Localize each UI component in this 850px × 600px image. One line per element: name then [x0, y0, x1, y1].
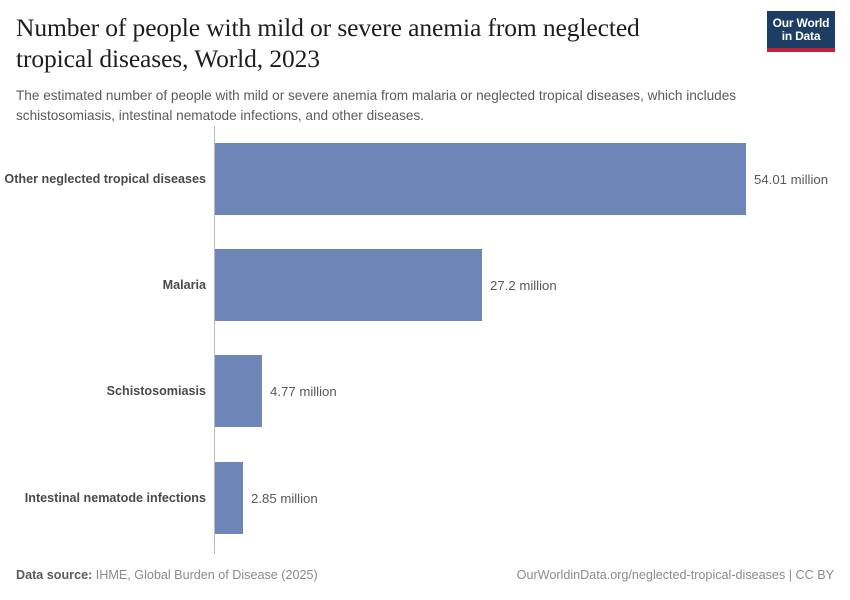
bar-row: Other neglected tropical diseases54.01 m…: [0, 143, 850, 215]
plot-area: Other neglected tropical diseases54.01 m…: [0, 126, 850, 554]
data-source-value: IHME, Global Burden of Disease (2025): [92, 568, 317, 582]
bar[interactable]: [215, 462, 243, 534]
chart-footer: Data source: IHME, Global Burden of Dise…: [16, 568, 834, 582]
data-source-label: Data source:: [16, 568, 92, 582]
page-title: Number of people with mild or severe ane…: [16, 12, 716, 74]
bar-value-label: 4.77 million: [262, 355, 337, 427]
data-source: Data source: IHME, Global Burden of Dise…: [16, 568, 318, 582]
bar-value-label: 2.85 million: [243, 462, 318, 534]
bar-value-label: 27.2 million: [482, 249, 557, 321]
bar-category-label: Schistosomiasis: [107, 355, 206, 427]
logo-line-2: in Data: [782, 30, 821, 43]
bar-value-label: 54.01 million: [746, 143, 828, 215]
bar-category-label: Malaria: [163, 249, 206, 321]
bar[interactable]: [215, 143, 746, 215]
chart-header: Number of people with mild or severe ane…: [16, 12, 834, 125]
bar-row: Intestinal nematode infections2.85 milli…: [0, 462, 850, 534]
bar-row: Schistosomiasis4.77 million: [0, 355, 850, 427]
bar[interactable]: [215, 249, 482, 321]
bar-row: Malaria27.2 million: [0, 249, 850, 321]
bar-category-label: Intestinal nematode infections: [25, 462, 206, 534]
chart-subtitle: The estimated number of people with mild…: [16, 86, 816, 125]
bar-category-label: Other neglected tropical diseases: [4, 143, 206, 215]
chart-container: Number of people with mild or severe ane…: [0, 0, 850, 600]
bar[interactable]: [215, 355, 262, 427]
attribution-link[interactable]: OurWorldinData.org/neglected-tropical-di…: [517, 568, 834, 582]
our-world-in-data-logo[interactable]: Our World in Data: [767, 11, 835, 52]
